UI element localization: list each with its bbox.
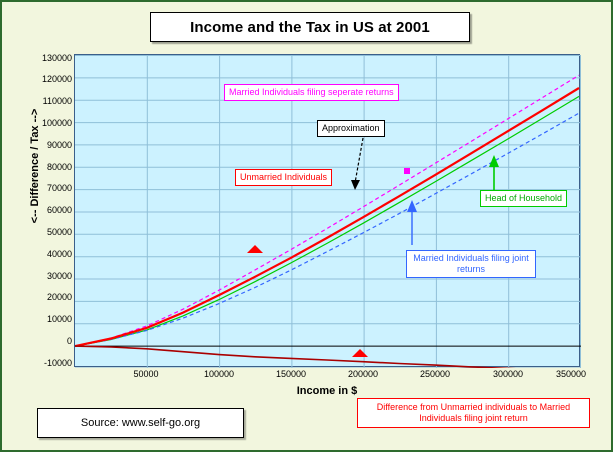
- x-tick: 50000: [133, 369, 158, 379]
- marker-married-separate: [404, 168, 410, 174]
- callout-married-separate: Married Individuals filing seperate retu…: [224, 84, 399, 101]
- y-tick: 60000: [47, 205, 72, 215]
- x-tick: 300000: [493, 369, 523, 379]
- y-tick: -10000: [44, 358, 72, 368]
- y-tick: 70000: [47, 183, 72, 193]
- y-tick: 120000: [42, 74, 72, 84]
- y-tick: 100000: [42, 118, 72, 128]
- y-tick: 40000: [47, 249, 72, 259]
- callout-difference: Difference from Unmarried individuals to…: [357, 398, 590, 428]
- y-tick: 50000: [47, 227, 72, 237]
- x-tick: 150000: [276, 369, 306, 379]
- x-tick: 100000: [204, 369, 234, 379]
- gridlines-horizontal: [75, 56, 581, 369]
- source-text: Source: www.self-go.org: [81, 417, 200, 429]
- x-axis-ticks: 50000 100000 150000 200000 250000 300000…: [74, 368, 580, 384]
- page-title: Income and the Tax in US at 2001: [190, 19, 430, 36]
- callout-leaders: [351, 138, 499, 245]
- y-tick: 80000: [47, 162, 72, 172]
- marker-difference: [352, 349, 368, 357]
- source-box: Source: www.self-go.org: [37, 408, 244, 438]
- chart-canvas: [75, 55, 581, 368]
- callout-approximation: Approximation: [317, 120, 385, 137]
- callout-married-joint: Married Individuals filing joint returns: [406, 250, 536, 278]
- x-tick: 250000: [420, 369, 450, 379]
- callout-unmarried: Unmarried Individuals: [235, 169, 332, 186]
- x-tick: 200000: [348, 369, 378, 379]
- callout-head-of-household: Head of Household: [480, 190, 567, 207]
- x-tick: 350000: [556, 369, 586, 379]
- y-tick: 30000: [47, 271, 72, 281]
- y-tick: 130000: [42, 53, 72, 63]
- series-married-joint: [75, 113, 579, 346]
- y-tick: 90000: [47, 140, 72, 150]
- y-tick: 110000: [43, 96, 72, 106]
- y-tick: 20000: [47, 292, 72, 302]
- y-tick: 0: [67, 336, 72, 346]
- series-difference: [75, 346, 579, 368]
- series-married-separate: [75, 75, 579, 346]
- chart-title-box: Income and the Tax in US at 2001: [150, 12, 470, 42]
- chart-page: Income and the Tax in US at 2001 <-- Dif…: [0, 0, 613, 452]
- y-axis-ticks: 130000 120000 110000 100000 90000 80000 …: [22, 54, 72, 367]
- y-tick: 10000: [47, 314, 72, 324]
- marker-unmarried: [247, 245, 263, 253]
- x-axis-title: Income in $: [74, 385, 580, 397]
